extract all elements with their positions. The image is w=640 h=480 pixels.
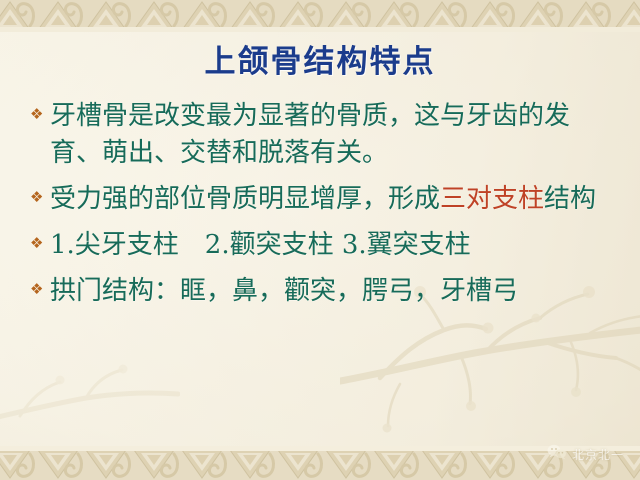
- text-segment: 拱门结构：眶，鼻，颧突，腭弓，牙槽弓: [50, 276, 518, 306]
- text-segment: 受力强的部位骨质明显增厚，形成: [50, 184, 440, 214]
- top-decorative-border: [0, 0, 640, 32]
- text-segment: 结构: [544, 184, 596, 214]
- slide-canvas: 上颌骨结构特点 ❖ 牙槽骨是改变最为显著的骨质，这与牙齿的发育、萌出、交替和脱落…: [0, 0, 640, 480]
- bullet-list: ❖ 牙槽骨是改变最为显著的骨质，这与牙齿的发育、萌出、交替和脱落有关。 ❖ 受力…: [30, 98, 616, 319]
- list-item: ❖ 拱门结构：眶，鼻，颧突，腭弓，牙槽弓: [30, 273, 616, 310]
- bullet-text-3: 1.尖牙支柱 2.颧突支柱 3.翼突支柱: [50, 227, 616, 264]
- diamond-bullet-icon: ❖: [30, 190, 50, 205]
- text-segment-highlight: 三对支柱: [440, 184, 544, 214]
- bottom-decorative-border: [0, 446, 640, 480]
- list-item: ❖ 牙槽骨是改变最为显著的骨质，这与牙齿的发育、萌出、交替和脱落有关。: [30, 98, 616, 172]
- list-item: ❖ 1.尖牙支柱 2.颧突支柱 3.翼突支柱: [30, 227, 616, 264]
- list-item: ❖ 受力强的部位骨质明显增厚，形成三对支柱结构: [30, 181, 616, 218]
- wechat-icon: [547, 444, 567, 464]
- title-container: 上颌骨结构特点: [0, 36, 640, 81]
- page-title: 上颌骨结构特点: [205, 36, 436, 81]
- diamond-bullet-icon: ❖: [30, 107, 50, 122]
- wechat-watermark: 北京北一: [547, 444, 624, 464]
- watermark-label: 北京北一: [572, 446, 624, 463]
- plum-blossom-branch-motif-left: [0, 300, 180, 450]
- bullet-text-1: 牙槽骨是改变最为显著的骨质，这与牙齿的发育、萌出、交替和脱落有关。: [50, 98, 616, 172]
- diamond-bullet-icon: ❖: [30, 282, 50, 297]
- diamond-bullet-icon: ❖: [30, 236, 50, 251]
- text-segment: 牙槽骨是改变最为显著的骨质，这与牙齿的发育、萌出、交替和脱落有关。: [50, 101, 570, 168]
- text-segment: 1.尖牙支柱 2.颧突支柱 3.翼突支柱: [50, 230, 471, 260]
- bullet-text-2: 受力强的部位骨质明显增厚，形成三对支柱结构: [50, 181, 616, 218]
- bullet-text-4: 拱门结构：眶，鼻，颧突，腭弓，牙槽弓: [50, 273, 616, 310]
